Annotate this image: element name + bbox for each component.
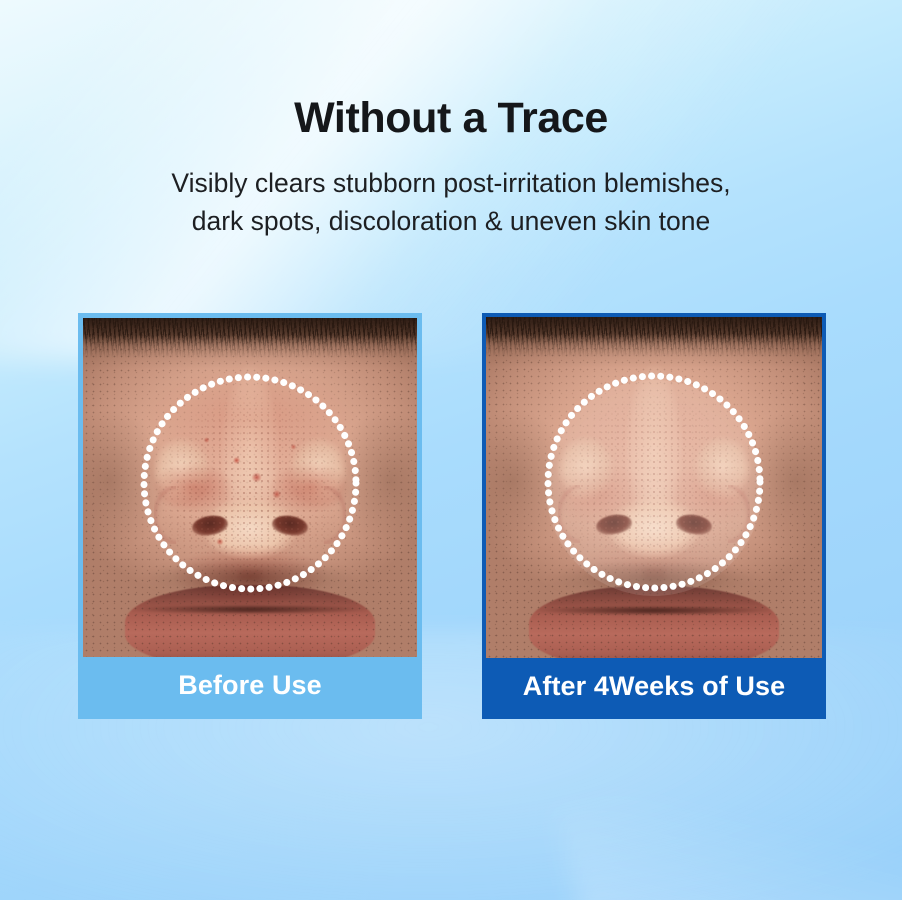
subtitle-line-2: dark spots, discoloration & uneven skin …	[0, 202, 902, 240]
after-photo	[486, 317, 822, 658]
before-photo	[83, 318, 417, 657]
subtitle-line-1: Visibly clears stubborn post-irritation …	[0, 164, 902, 202]
before-after-comparison: Before Use	[78, 313, 826, 719]
header: Without a Trace Visibly clears stubborn …	[0, 96, 902, 240]
after-label-bar: After 4Weeks of Use	[486, 658, 822, 715]
after-label-text: After 4Weeks of Use	[523, 671, 786, 702]
before-label-bar: Before Use	[83, 657, 417, 714]
page-title: Without a Trace	[0, 96, 902, 142]
page-subtitle: Visibly clears stubborn post-irritation …	[0, 164, 902, 240]
dotted-circle-highlight	[139, 372, 361, 594]
before-label-text: Before Use	[178, 670, 322, 701]
comparison-panel-after: After 4Weeks of Use	[482, 313, 826, 719]
dotted-circle-highlight	[543, 371, 765, 593]
comparison-panel-before: Before Use	[78, 313, 422, 719]
